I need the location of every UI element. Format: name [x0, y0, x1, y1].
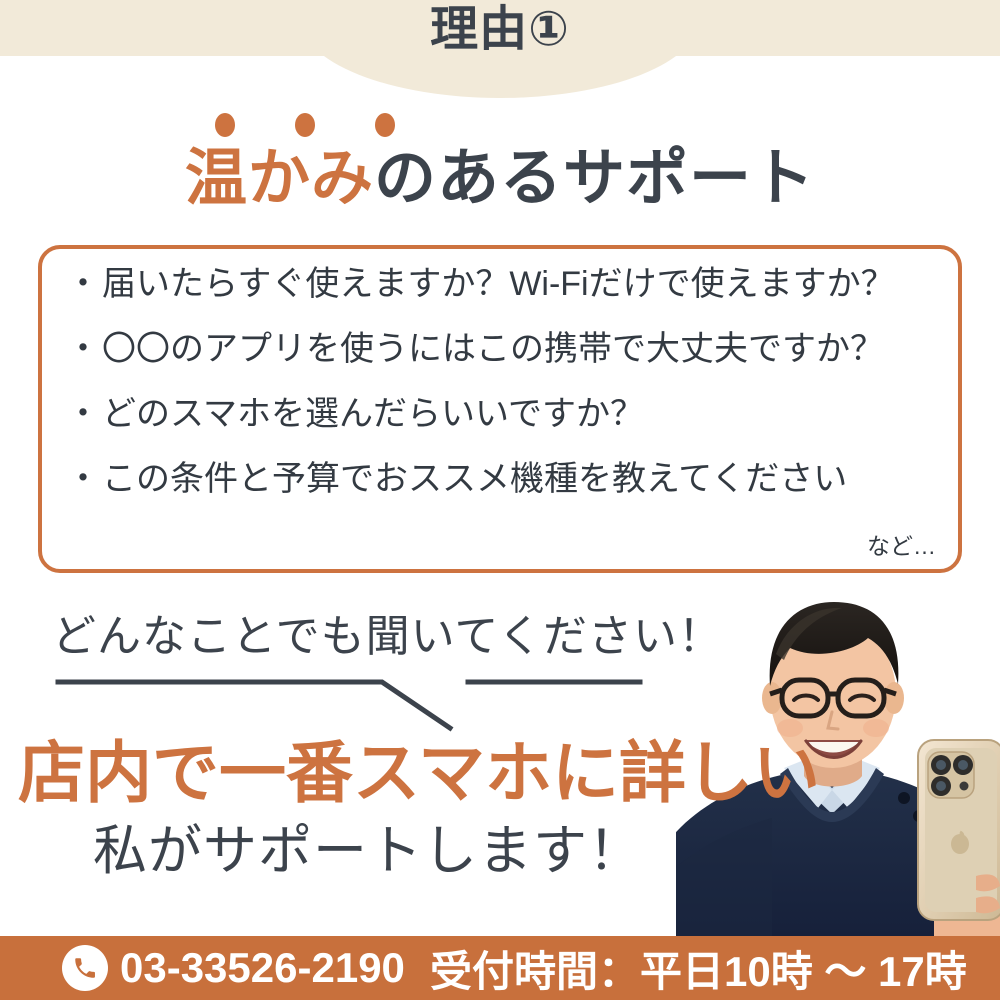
dot-icon [295, 113, 315, 137]
section-title-rest: のあるサポート [374, 144, 815, 213]
business-hours: 受付時間：平日10時 〜 17時 [430, 936, 967, 1000]
list-item-label: どのスマホを選んだらいいですか？ [102, 395, 644, 433]
phone-number[interactable]: 03-33526-2190 [120, 936, 405, 1000]
list-item: ・どのスマホを選んだらいいですか？ [66, 397, 944, 431]
question-box: ・届いたらすぐ使えますか？Wi-Fiだけで使えますか？ ・〇〇のアプリを使うには… [38, 245, 962, 573]
promo-headline: 店内で一番スマホに詳しい [18, 740, 738, 807]
ask-anything-label: どんなことでも聞いてください！ [52, 600, 723, 664]
list-item: ・届いたらすぐ使えますか？Wi-Fiだけで使えますか？ [66, 267, 944, 301]
bullet-glyph: ・ [66, 395, 100, 433]
bullet-glyph: ・ [66, 265, 100, 303]
etcetera-label: など… [867, 527, 936, 561]
phone-icon [62, 945, 108, 991]
list-item-label: この条件と予算でおススメ機種を教えてください [102, 460, 847, 498]
list-item-label: 〇〇のアプリを使うにはこの携帯で大丈夫ですか？ [102, 330, 884, 368]
bullet-glyph: ・ [66, 330, 100, 368]
dot-icon [215, 113, 235, 137]
speech-bubble-underline [40, 668, 680, 738]
list-item: ・〇〇のアプリを使うにはこの携帯で大丈夫ですか？ [66, 332, 944, 366]
contact-footer: 03-33526-2190 受付時間：平日10時 〜 17時 [0, 936, 1000, 1000]
dot-icon [375, 113, 395, 137]
section-title: 温かみのあるサポート [0, 142, 1000, 215]
section-title-highlight: 温かみ [185, 144, 374, 213]
list-item: ・この条件と予算でおススメ機種を教えてください [66, 462, 944, 496]
bullet-glyph: ・ [66, 460, 100, 498]
decorative-dots [215, 112, 395, 138]
promo-subline: 私がサポートします！ [18, 824, 718, 878]
reason-badge-label: 理由① [0, 6, 1000, 54]
list-item-label: 届いたらすぐ使えますか？Wi-Fiだけで使えますか？ [102, 265, 895, 303]
question-list: ・届いたらすぐ使えますか？Wi-Fiだけで使えますか？ ・〇〇のアプリを使うには… [66, 267, 944, 496]
poster-root: 理由① 温かみのあるサポート ・届いたらすぐ使えますか？Wi-Fiだけで使えます… [0, 0, 1000, 1000]
